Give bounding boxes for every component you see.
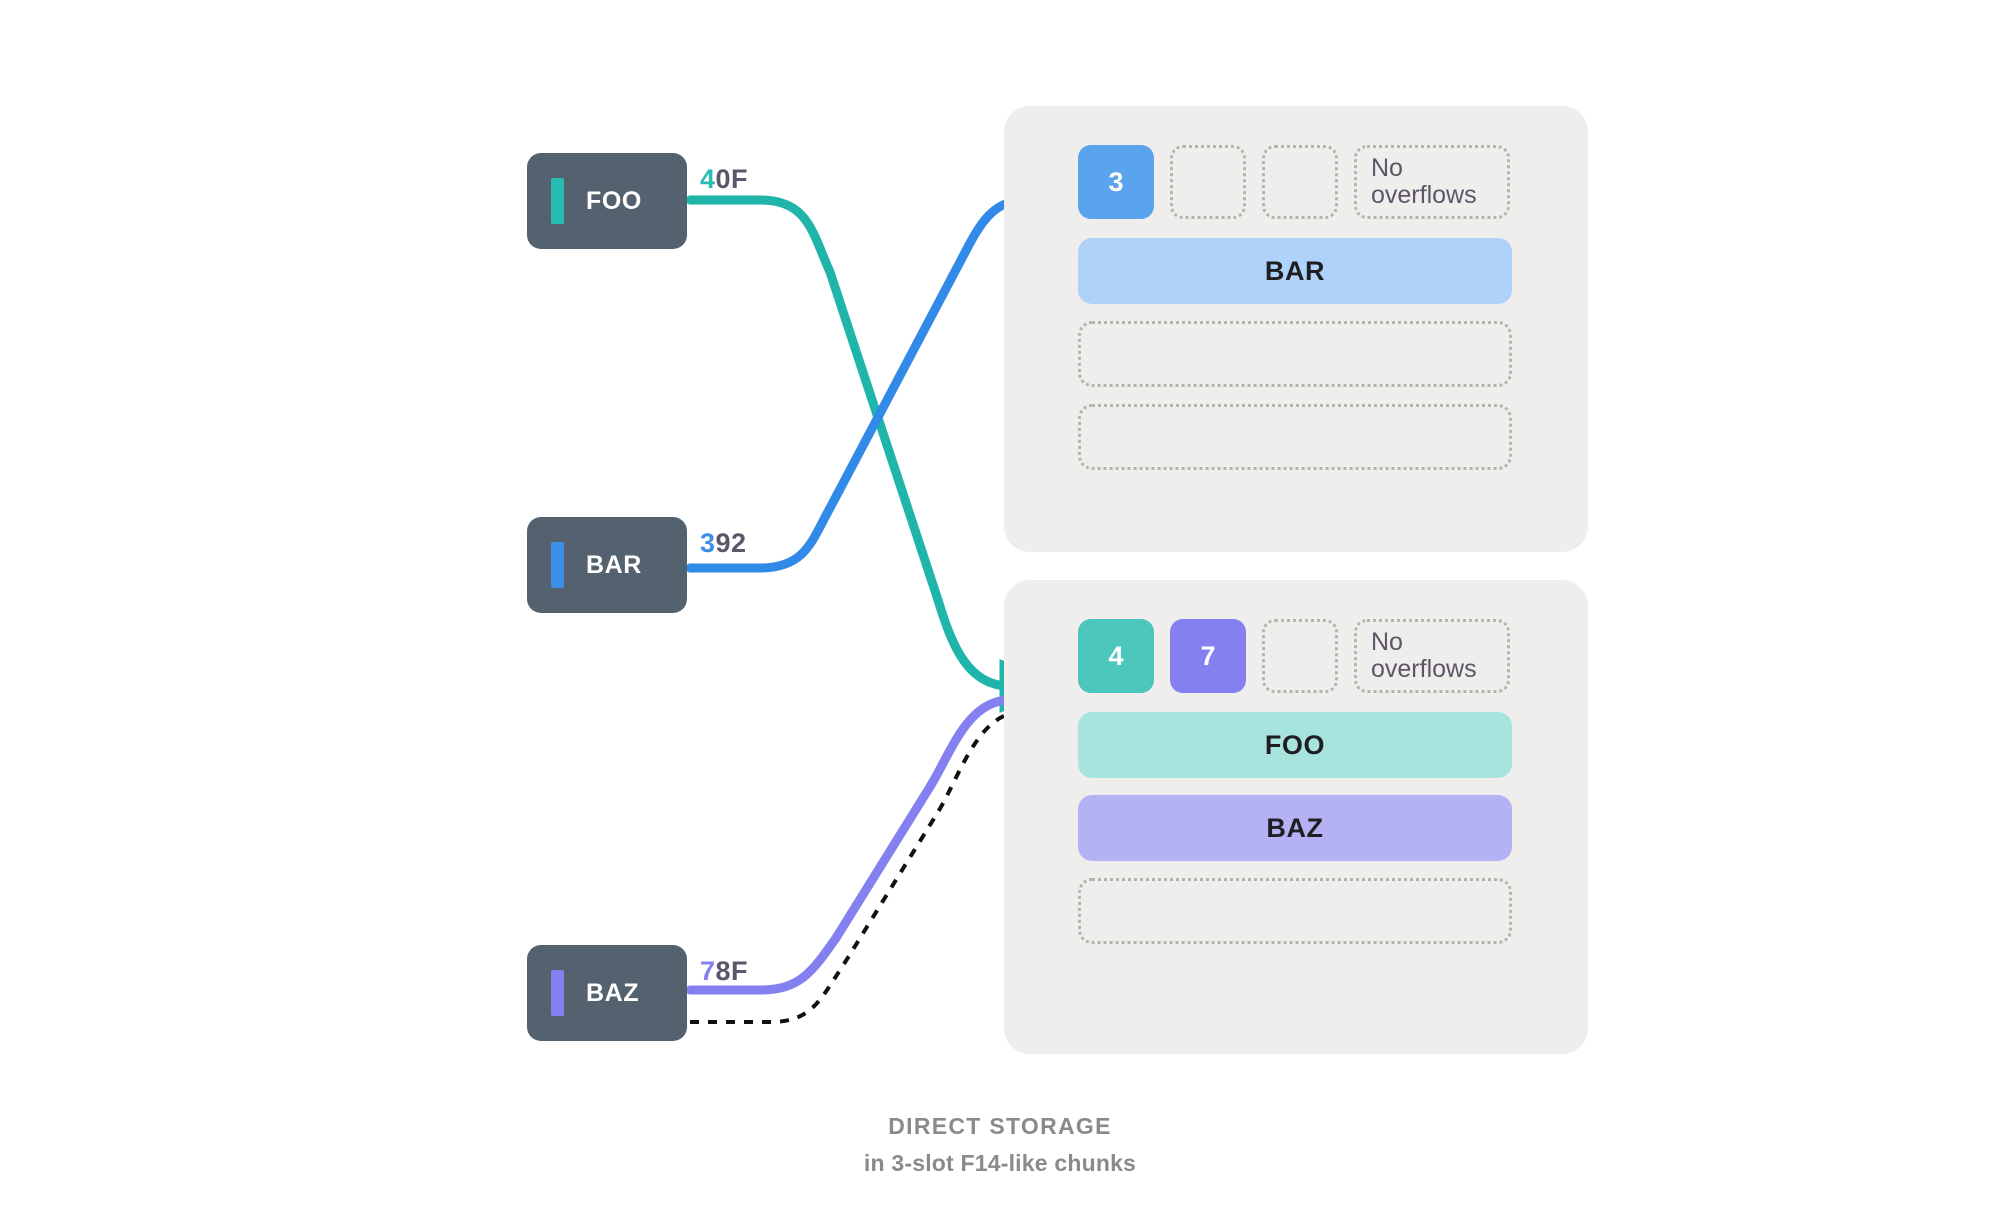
caption-line-2: in 3-slot F14-like chunks [0, 1150, 2000, 1177]
key-swatch-baz [551, 970, 564, 1016]
key-box-baz[interactable]: BAZ [527, 945, 687, 1041]
tag-slot-2[interactable] [1262, 145, 1338, 219]
overflow-line-1: No [1371, 154, 1403, 182]
connector-wires [0, 0, 2000, 1217]
overflow-indicator: No overflows [1354, 145, 1510, 219]
overflow-indicator: No overflows [1354, 619, 1510, 693]
hash-label-foo: 40F [700, 164, 748, 195]
slot-row[interactable] [1078, 878, 1512, 944]
hash-tail-bar: 92 [716, 528, 747, 558]
slot-row[interactable]: FOO [1078, 712, 1512, 778]
key-label-baz: BAZ [586, 979, 639, 1008]
hash-tail-baz: 8F [716, 956, 749, 986]
key-swatch-bar [551, 542, 564, 588]
wire-foo [690, 200, 1030, 686]
hash-label-baz: 78F [700, 956, 748, 987]
chunk-panel-top: 3 No overflows BAR [1004, 106, 1588, 552]
tag-slot-1[interactable]: 7 [1170, 619, 1246, 693]
hash-head-baz: 7 [700, 956, 716, 986]
slot-list-top: BAR [1078, 238, 1512, 487]
key-box-foo[interactable]: FOO [527, 153, 687, 249]
tag-row-bottom: 4 7 No overflows [1078, 619, 1510, 693]
hash-tail-foo: 0F [716, 164, 749, 194]
slot-row[interactable]: BAZ [1078, 795, 1512, 861]
hash-label-bar: 392 [700, 528, 747, 559]
diagram-caption: DIRECT STORAGE in 3-slot F14-like chunks [0, 1113, 2000, 1177]
hash-head-bar: 3 [700, 528, 716, 558]
overflow-line-2: overflows [1371, 655, 1477, 683]
slot-list-bottom: FOO BAZ [1078, 712, 1512, 961]
overflow-line-2: overflows [1371, 181, 1477, 209]
key-label-foo: FOO [586, 187, 642, 216]
caption-line-1: DIRECT STORAGE [0, 1113, 2000, 1140]
tag-slot-0[interactable]: 4 [1078, 619, 1154, 693]
key-box-bar[interactable]: BAR [527, 517, 687, 613]
overflow-line-1: No [1371, 628, 1403, 656]
chunk-panel-bottom: 4 7 No overflows FOO BAZ [1004, 580, 1588, 1054]
key-label-bar: BAR [586, 551, 642, 580]
slot-row[interactable]: BAR [1078, 238, 1512, 304]
diagram-canvas: FOO BAR BAZ 40F 392 78F 3 No overflows B… [0, 0, 2000, 1217]
slot-row[interactable] [1078, 321, 1512, 387]
tag-slot-2[interactable] [1262, 619, 1338, 693]
tag-row-top: 3 No overflows [1078, 145, 1510, 219]
slot-row[interactable] [1078, 404, 1512, 470]
tag-slot-0[interactable]: 3 [1078, 145, 1154, 219]
key-swatch-foo [551, 178, 564, 224]
wire-bar [690, 200, 1038, 568]
hash-head-foo: 4 [700, 164, 716, 194]
tag-slot-1[interactable] [1170, 145, 1246, 219]
